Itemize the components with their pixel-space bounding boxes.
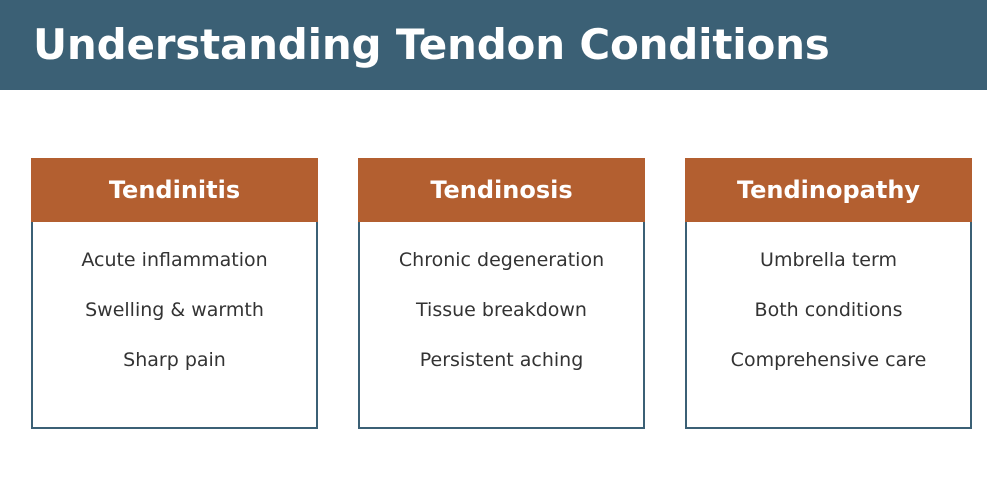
condition-card-tendinopathy: Tendinopathy Umbrella term Both conditio… <box>685 158 972 429</box>
card-item: Both conditions <box>755 298 903 322</box>
card-body-tendinosis: Chronic degeneration Tissue breakdown Pe… <box>358 222 645 429</box>
condition-card-tendinosis: Tendinosis Chronic degeneration Tissue b… <box>358 158 645 429</box>
card-title-tendinitis: Tendinitis <box>109 178 240 202</box>
card-body-tendinopathy: Umbrella term Both conditions Comprehens… <box>685 222 972 429</box>
card-item: Swelling & warmth <box>85 298 264 322</box>
card-body-tendinitis: Acute inflammation Swelling & warmth Sha… <box>31 222 318 429</box>
card-item: Acute inflammation <box>81 248 267 272</box>
card-item: Tissue breakdown <box>416 298 587 322</box>
card-title-tendinosis: Tendinosis <box>430 178 572 202</box>
card-header-tendinopathy: Tendinopathy <box>685 158 972 222</box>
card-header-tendinosis: Tendinosis <box>358 158 645 222</box>
header-banner: Understanding Tendon Conditions <box>0 0 987 90</box>
card-header-tendinitis: Tendinitis <box>31 158 318 222</box>
page-title: Understanding Tendon Conditions <box>33 17 830 73</box>
card-item: Sharp pain <box>123 348 226 372</box>
infographic-page: Understanding Tendon Conditions Tendinit… <box>0 0 987 486</box>
card-item: Comprehensive care <box>731 348 927 372</box>
card-item: Persistent aching <box>420 348 584 372</box>
condition-card-tendinitis: Tendinitis Acute inflammation Swelling &… <box>31 158 318 429</box>
condition-cards-row: Tendinitis Acute inflammation Swelling &… <box>31 158 972 429</box>
card-item: Umbrella term <box>760 248 897 272</box>
card-title-tendinopathy: Tendinopathy <box>737 178 920 202</box>
card-item: Chronic degeneration <box>399 248 604 272</box>
